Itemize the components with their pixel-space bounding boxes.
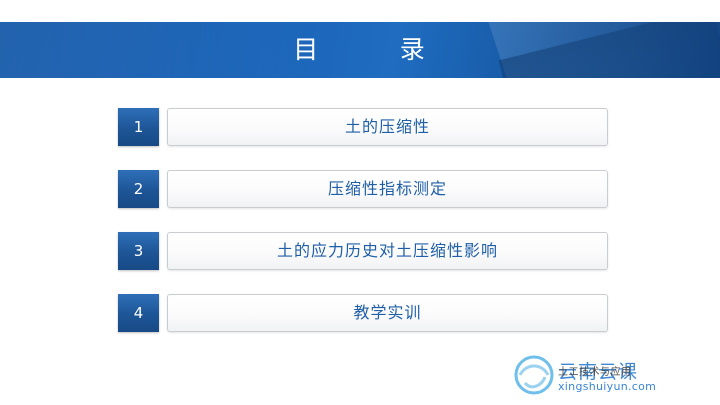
watermark: 云南云课 土工技术与应用 xingshuiyun.com — [512, 349, 712, 401]
toc-number-badge: 4 — [118, 294, 159, 332]
toc-number-badge: 3 — [118, 232, 159, 270]
toc-item-label: 压缩性指标测定 — [168, 171, 607, 207]
toc-number-badge: 1 — [118, 108, 159, 146]
watermark-subtitle: 土工技术与应用 — [558, 363, 632, 378]
toc-item-label: 土的应力历史对土压缩性影响 — [168, 233, 607, 269]
toc-item-box[interactable]: 压缩性指标测定 — [167, 170, 608, 208]
toc-item-box[interactable]: 教学实训 — [167, 294, 608, 332]
toc-item-box[interactable]: 土的压缩性 — [167, 108, 608, 146]
toc-item-1[interactable]: 1 土的压缩性 — [118, 108, 608, 146]
toc-item-label: 教学实训 — [168, 295, 607, 331]
slide-canvas: 目 录 1 土的压缩性 2 压缩性指标测定 3 土的应力历史对土压缩性影响 4 … — [0, 0, 720, 405]
title-banner: 目 录 — [0, 22, 720, 78]
toc-list: 1 土的压缩性 2 压缩性指标测定 3 土的应力历史对土压缩性影响 4 教学实训 — [118, 108, 608, 356]
toc-item-2[interactable]: 2 压缩性指标测定 — [118, 170, 608, 208]
page-title: 目 录 — [0, 22, 720, 78]
toc-item-label: 土的压缩性 — [168, 109, 607, 145]
toc-item-box[interactable]: 土的应力历史对土压缩性影响 — [167, 232, 608, 270]
toc-number-badge: 2 — [118, 170, 159, 208]
toc-item-4[interactable]: 4 教学实训 — [118, 294, 608, 332]
circle-swoosh-logo-icon — [512, 353, 556, 397]
toc-item-3[interactable]: 3 土的应力历史对土压缩性影响 — [118, 232, 608, 270]
watermark-url: xingshuiyun.com — [558, 380, 656, 393]
